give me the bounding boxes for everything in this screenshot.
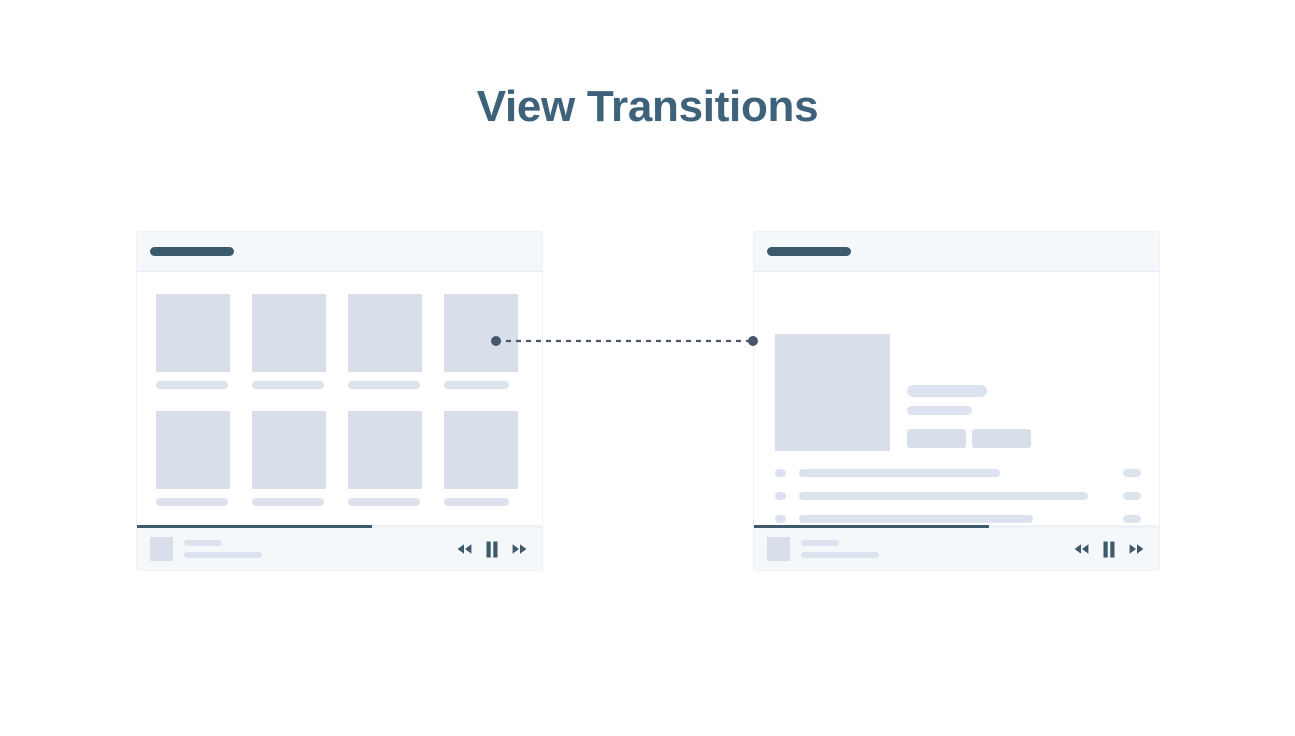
card-caption xyxy=(156,498,228,506)
card-thumbnail xyxy=(252,294,326,372)
list-item-2[interactable] xyxy=(775,492,1141,500)
player-footer-detail[interactable] xyxy=(754,525,1159,570)
fast-forward-icon[interactable] xyxy=(1128,543,1145,555)
player-controls xyxy=(1073,541,1145,558)
hero-subtitle-placeholder xyxy=(907,406,972,415)
list-item-trailing-placeholder xyxy=(1123,469,1141,477)
card-thumbnail xyxy=(348,411,422,489)
list-item-text-placeholder xyxy=(799,469,1000,477)
header-title-placeholder xyxy=(150,247,234,256)
list-item-bullet-icon xyxy=(775,469,786,477)
rewind-icon[interactable] xyxy=(456,543,473,555)
progress-fill xyxy=(137,525,372,528)
rewind-icon[interactable] xyxy=(1073,543,1090,555)
now-playing-subtitle-placeholder xyxy=(801,552,879,558)
list-item-text-placeholder xyxy=(799,492,1088,500)
card-thumbnail xyxy=(156,294,230,372)
pause-icon[interactable] xyxy=(1102,541,1116,558)
card-grid-row xyxy=(156,294,523,389)
card-8[interactable] xyxy=(444,411,518,506)
card-caption xyxy=(348,498,420,506)
secondary-action-button[interactable] xyxy=(972,429,1031,448)
now-playing-thumbnail xyxy=(150,537,173,561)
now-playing-text xyxy=(801,540,879,558)
card-2[interactable] xyxy=(252,294,326,389)
primary-action-button[interactable] xyxy=(907,429,966,448)
hero-image-transition-target[interactable] xyxy=(775,334,890,451)
list-item-3[interactable] xyxy=(775,515,1141,523)
panel-detail-view[interactable] xyxy=(753,231,1160,571)
panel-body-detail xyxy=(754,272,1159,525)
card-caption xyxy=(156,381,228,389)
list-item-bullet-icon xyxy=(775,492,786,500)
card-caption xyxy=(444,381,509,389)
card-thumbnail xyxy=(348,294,422,372)
now-playing-thumbnail xyxy=(767,537,790,561)
progress-track[interactable] xyxy=(137,525,542,528)
progress-fill xyxy=(754,525,989,528)
panel-body-grid xyxy=(137,272,542,525)
detail-hero xyxy=(775,334,1031,451)
panel-grid-view[interactable] xyxy=(136,231,543,571)
card-5[interactable] xyxy=(156,411,230,506)
card-thumbnail xyxy=(252,411,326,489)
hero-title-placeholder xyxy=(907,385,987,397)
card-caption xyxy=(444,498,509,506)
card-6[interactable] xyxy=(252,411,326,506)
header-title-placeholder xyxy=(767,247,851,256)
list-item-trailing-placeholder xyxy=(1123,515,1141,523)
card-thumbnail xyxy=(444,411,518,489)
card-caption xyxy=(252,498,324,506)
pause-icon[interactable] xyxy=(485,541,499,558)
hero-buttons xyxy=(907,429,1031,448)
card-4-transition-source[interactable] xyxy=(444,294,518,389)
card-grid-row xyxy=(156,411,523,506)
panel-header-grid xyxy=(137,232,542,272)
list-item-1[interactable] xyxy=(775,469,1141,477)
panel-header-detail xyxy=(754,232,1159,272)
now-playing-text xyxy=(184,540,262,558)
card-thumbnail xyxy=(444,294,518,372)
page-title: View Transitions xyxy=(0,79,1295,135)
slide-canvas: View Transitions xyxy=(0,0,1295,736)
card-3[interactable] xyxy=(348,294,422,389)
card-thumbnail xyxy=(156,411,230,489)
card-grid xyxy=(156,294,523,506)
list-item-bullet-icon xyxy=(775,515,786,523)
progress-track[interactable] xyxy=(754,525,1159,528)
card-1[interactable] xyxy=(156,294,230,389)
player-footer-grid[interactable] xyxy=(137,525,542,570)
list-item-trailing-placeholder xyxy=(1123,492,1141,500)
detail-list xyxy=(775,469,1141,525)
now-playing-title-placeholder xyxy=(801,540,839,546)
fast-forward-icon[interactable] xyxy=(511,543,528,555)
hero-meta xyxy=(907,334,1031,451)
now-playing-subtitle-placeholder xyxy=(184,552,262,558)
now-playing-title-placeholder xyxy=(184,540,222,546)
player-controls xyxy=(456,541,528,558)
card-caption xyxy=(348,381,420,389)
card-caption xyxy=(252,381,324,389)
list-item-text-placeholder xyxy=(799,515,1033,523)
card-7[interactable] xyxy=(348,411,422,506)
